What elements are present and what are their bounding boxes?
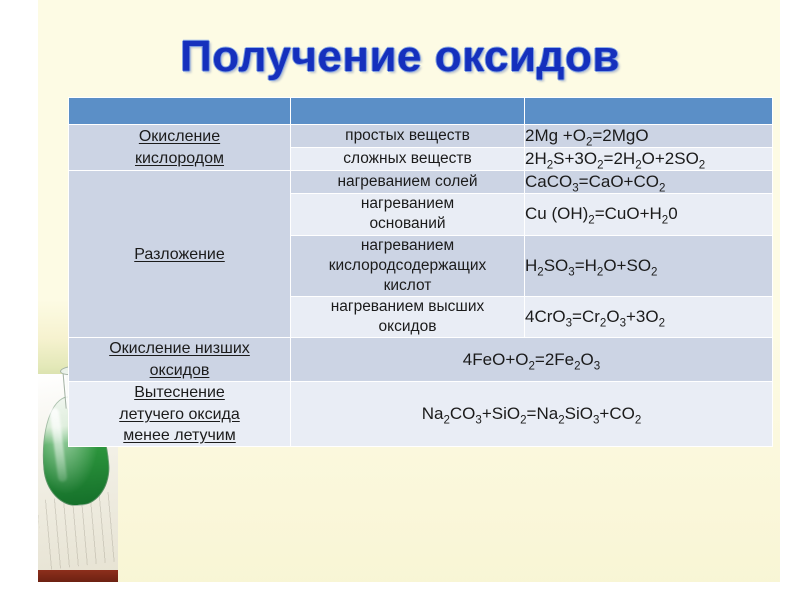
equation-cell-merged: Na2CO3+SiO2=Na2SiO3+CO2 <box>291 382 773 447</box>
equation-cell: H2SO3=H2O+SO2 <box>525 235 773 296</box>
table-row: Окисление кислородом простых веществ 2Mg… <box>69 125 773 148</box>
detail-line: оснований <box>369 215 445 232</box>
detail-line: нагреванием <box>361 237 454 254</box>
detail-line: кислот <box>384 277 432 294</box>
category-line: оксидов <box>150 362 210 379</box>
detail-cell: нагреванием оснований <box>291 194 525 235</box>
equation-cell-merged: 4FeO+O2=2Fe2O3 <box>291 338 773 382</box>
header-cell-detail <box>291 98 525 125</box>
category-line: Окисление <box>139 128 220 145</box>
category-line: Вытеснение <box>134 384 225 401</box>
detail-line: оксидов <box>379 318 437 335</box>
detail-line: нагреванием <box>361 195 454 212</box>
photo-base-bar <box>38 570 118 582</box>
category-cell-oxidation-lower-oxides: Окисление низших оксидов <box>69 338 291 382</box>
page-margin-bottom <box>0 582 800 600</box>
equation-cell: Cu (OH)2=CuO+H20 <box>525 194 773 235</box>
category-cell-displacement: Вытеснение летучего оксида менее летучим <box>69 382 291 447</box>
oxide-preparation-table-wrapper: Окисление кислородом простых веществ 2Mg… <box>68 97 772 447</box>
detail-line: нагреванием высших <box>331 298 485 315</box>
category-line: менее летучим <box>123 427 235 444</box>
category-line: летучего оксида <box>119 406 240 423</box>
equation-cell: 2Mg +O2=2MgO <box>525 125 773 148</box>
header-cell-method <box>69 98 291 125</box>
equation-cell: 2H2S+3O2=2H2O+2SO2 <box>525 148 773 171</box>
category-line: кислородом <box>135 150 224 167</box>
category-line: Окисление низших <box>109 340 250 357</box>
equation-cell: 4CrO3=Cr2O3+3O2 <box>525 296 773 337</box>
detail-cell: простых веществ <box>291 125 525 148</box>
category-line: Разложение <box>134 246 225 263</box>
page-margin-left <box>0 0 38 600</box>
table-header-row <box>69 98 773 125</box>
page-title: Получение оксидов <box>0 32 800 82</box>
detail-cell: нагреванием солей <box>291 171 525 194</box>
slide-canvas: Получение оксидов Окисление кислородом <box>0 0 800 600</box>
page-margin-right <box>780 0 800 600</box>
detail-cell: сложных веществ <box>291 148 525 171</box>
header-cell-equation <box>525 98 773 125</box>
table-row: Окисление низших оксидов 4FeO+O2=2Fe2O3 <box>69 338 773 382</box>
detail-cell: нагреванием кислородсодержащих кислот <box>291 235 525 296</box>
category-cell-decomposition: Разложение <box>69 171 291 338</box>
detail-cell: нагреванием высших оксидов <box>291 296 525 337</box>
oxide-preparation-table: Окисление кислородом простых веществ 2Mg… <box>68 97 773 447</box>
table-row: Вытеснение летучего оксида менее летучим… <box>69 382 773 447</box>
table-row: Разложение нагреванием солей CaCO3=CaO+C… <box>69 171 773 194</box>
detail-line: кислородсодержащих <box>329 257 487 274</box>
category-cell-oxidation-by-oxygen: Окисление кислородом <box>69 125 291 171</box>
equation-cell: CaCO3=CaO+CO2 <box>525 171 773 194</box>
